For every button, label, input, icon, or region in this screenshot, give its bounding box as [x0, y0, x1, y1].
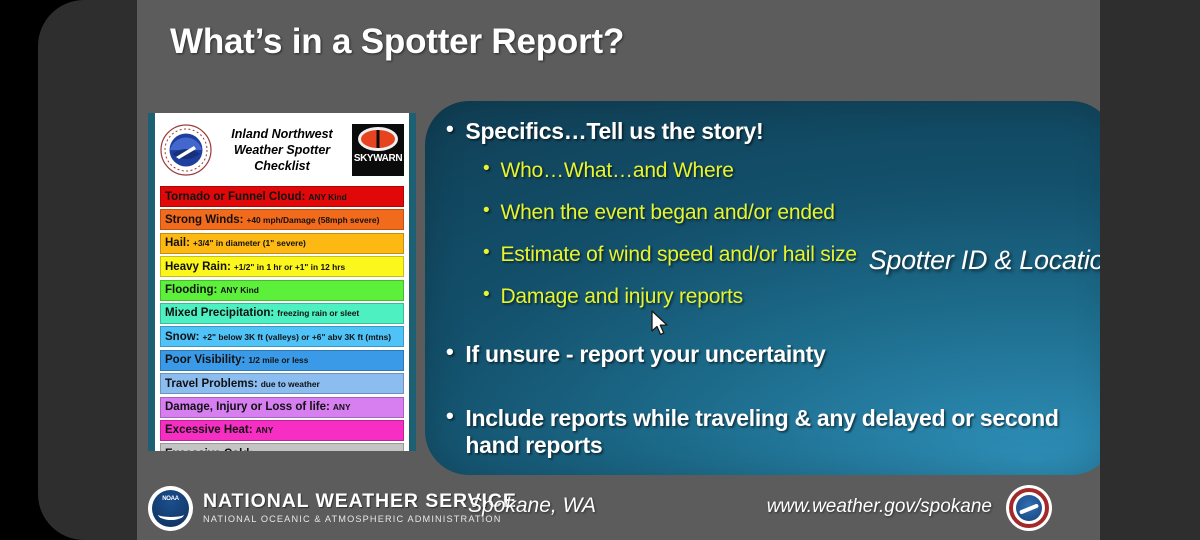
checklist-row-label: Snow:: [165, 331, 200, 343]
checklist-row-note: ANY: [256, 425, 274, 435]
checklist-row-label: Travel Problems:: [165, 378, 258, 390]
checklist-row-label: Flooding:: [165, 284, 217, 296]
checklist-row-list: Tornado or Funnel Cloud:ANY KindStrong W…: [160, 186, 404, 451]
checklist-row-note: +1/2" in 1 hr or +1" in 12 hrs: [234, 262, 345, 272]
noaa-logo-inner: NOAA: [152, 490, 189, 527]
bullet-item-level-1: •Specifics…Tell us the story!: [446, 118, 1086, 145]
checklist-row: Excessive Cold:ANY: [160, 443, 404, 451]
checklist-row-label: Strong Winds:: [165, 214, 243, 226]
checklist-row: Snow:+2" below 3K ft (valleys) or +6" ab…: [160, 326, 404, 347]
bullet-text: If unsure - report your uncertainty: [465, 341, 825, 368]
skywarn-eye-shape: [358, 127, 398, 151]
checklist-row: Tornado or Funnel Cloud:ANY Kind: [160, 186, 404, 207]
checklist-row: Heavy Rain:+1/2" in 1 hr or +1" in 12 hr…: [160, 256, 404, 277]
nws-seal-ring: [1009, 488, 1049, 528]
content-panel: •Specifics…Tell us the story!•Who…What…a…: [425, 101, 1100, 475]
checklist-heading-line-3: Checklist: [212, 158, 352, 174]
bullet-item-level-2: •Estimate of wind speed and/or hail size: [483, 243, 857, 267]
checklist-row: Damage, Injury or Loss of life:ANY: [160, 397, 404, 418]
bullet-item-level-2: •Who…What…and Where: [483, 159, 734, 183]
bullet-text: Damage and injury reports: [500, 285, 742, 309]
noaa-logo-icon: NOAA: [148, 486, 193, 531]
spotter-checklist-image: Inland Northwest Weather Spotter Checkli…: [148, 113, 416, 451]
checklist-row: Strong Winds:+40 mph/Damage (58mph sever…: [160, 209, 404, 230]
bullet-text: Include reports while traveling & any de…: [465, 405, 1086, 459]
bullet-text: Estimate of wind speed and/or hail size: [500, 243, 856, 267]
bullet-text: Who…What…and Where: [500, 159, 733, 183]
checklist-row-note: +3/4" in diameter (1" severe): [193, 238, 306, 248]
bullet-dot-icon: •: [483, 201, 489, 220]
bullet-dot-icon: •: [446, 405, 453, 427]
page-title: What’s in a Spotter Report?: [170, 22, 624, 62]
bullet-item-level-1: •If unsure - report your uncertainty: [446, 341, 1086, 368]
bullet-text: When the event began and/or ended: [500, 201, 834, 225]
checklist-row-label: Tornado or Funnel Cloud:: [165, 191, 305, 203]
bullet-dot-icon: •: [483, 285, 489, 304]
checklist-row-note: ANY Kind: [308, 192, 346, 202]
bullet-item-level-2: •When the event began and/or ended: [483, 201, 835, 225]
screenshot-root: What’s in a Spotter Report? Inland North…: [0, 0, 1200, 540]
checklist-row-label: Heavy Rain:: [165, 261, 231, 273]
nws-seal-core: [1016, 495, 1042, 521]
checklist-row-label: Hail:: [165, 237, 190, 249]
checklist-row: Mixed Precipitation:freezing rain or sle…: [160, 303, 404, 324]
skywarn-logo-icon: SKYWARN: [352, 124, 404, 176]
skywarn-wordmark: SKYWARN: [354, 153, 402, 164]
checklist-row-note: ANY: [256, 449, 274, 451]
checklist-row-note: ANY: [333, 402, 351, 412]
checklist-row-note: due to weather: [261, 379, 320, 389]
checklist-row: Poor Visibility:1/2 mile or less: [160, 350, 404, 371]
bullet-item-level-1: •Include reports while traveling & any d…: [446, 405, 1086, 459]
bullet-dot-icon: •: [446, 341, 453, 363]
spotter-id-callout: Spotter ID & Location: [869, 245, 1100, 276]
checklist-row: Flooding:ANY Kind: [160, 280, 404, 301]
checklist-row: Excessive Heat:ANY: [160, 420, 404, 441]
nws-seal-icon: [1006, 485, 1052, 531]
bullet-list: •Specifics…Tell us the story!•Who…What…a…: [425, 101, 1100, 475]
checklist-heading-line-1: Inland Northwest: [212, 126, 352, 142]
office-location: Spokane, WA: [468, 494, 596, 518]
checklist-row-note: ANY Kind: [220, 285, 258, 295]
website-url[interactable]: www.weather.gov/spokane: [767, 496, 992, 518]
checklist-row-label: Damage, Injury or Loss of life:: [165, 401, 330, 413]
bullet-text: Specifics…Tell us the story!: [465, 118, 763, 145]
bullet-dot-icon: •: [446, 118, 453, 140]
noaa-bird-shape: [158, 509, 184, 520]
slide-canvas: What’s in a Spotter Report? Inland North…: [137, 0, 1100, 540]
checklist-row-label: Excessive Heat:: [165, 424, 253, 436]
bullet-dot-icon: •: [483, 243, 489, 262]
checklist-row-note: +40 mph/Damage (58mph severe): [246, 215, 379, 225]
checklist-row-label: Poor Visibility:: [165, 354, 245, 366]
checklist-row-label: Mixed Precipitation:: [165, 307, 274, 319]
checklist-row-note: +2" below 3K ft (valleys) or +6" abv 3K …: [203, 332, 392, 342]
noaa-nws-seal-icon: [160, 124, 212, 176]
checklist-heading: Inland Northwest Weather Spotter Checkli…: [212, 126, 352, 174]
checklist-header: Inland Northwest Weather Spotter Checkli…: [160, 117, 404, 183]
checklist-row-label: Excessive Cold:: [165, 448, 253, 451]
checklist-row-note: 1/2 mile or less: [248, 355, 308, 365]
checklist-row: Travel Problems:due to weather: [160, 373, 404, 394]
bullet-dot-icon: •: [483, 159, 489, 178]
footer-bar: NOAA NATIONAL WEATHER SERVICE NATIONAL O…: [137, 478, 1100, 540]
noaa-wordmark: NOAA: [162, 496, 178, 502]
checklist-row: Hail:+3/4" in diameter (1" severe): [160, 233, 404, 254]
bullet-item-level-2: •Damage and injury reports: [483, 285, 743, 309]
checklist-row-note: freezing rain or sleet: [277, 308, 359, 318]
checklist-heading-line-2: Weather Spotter: [212, 142, 352, 158]
arrow-cursor: [650, 310, 670, 338]
